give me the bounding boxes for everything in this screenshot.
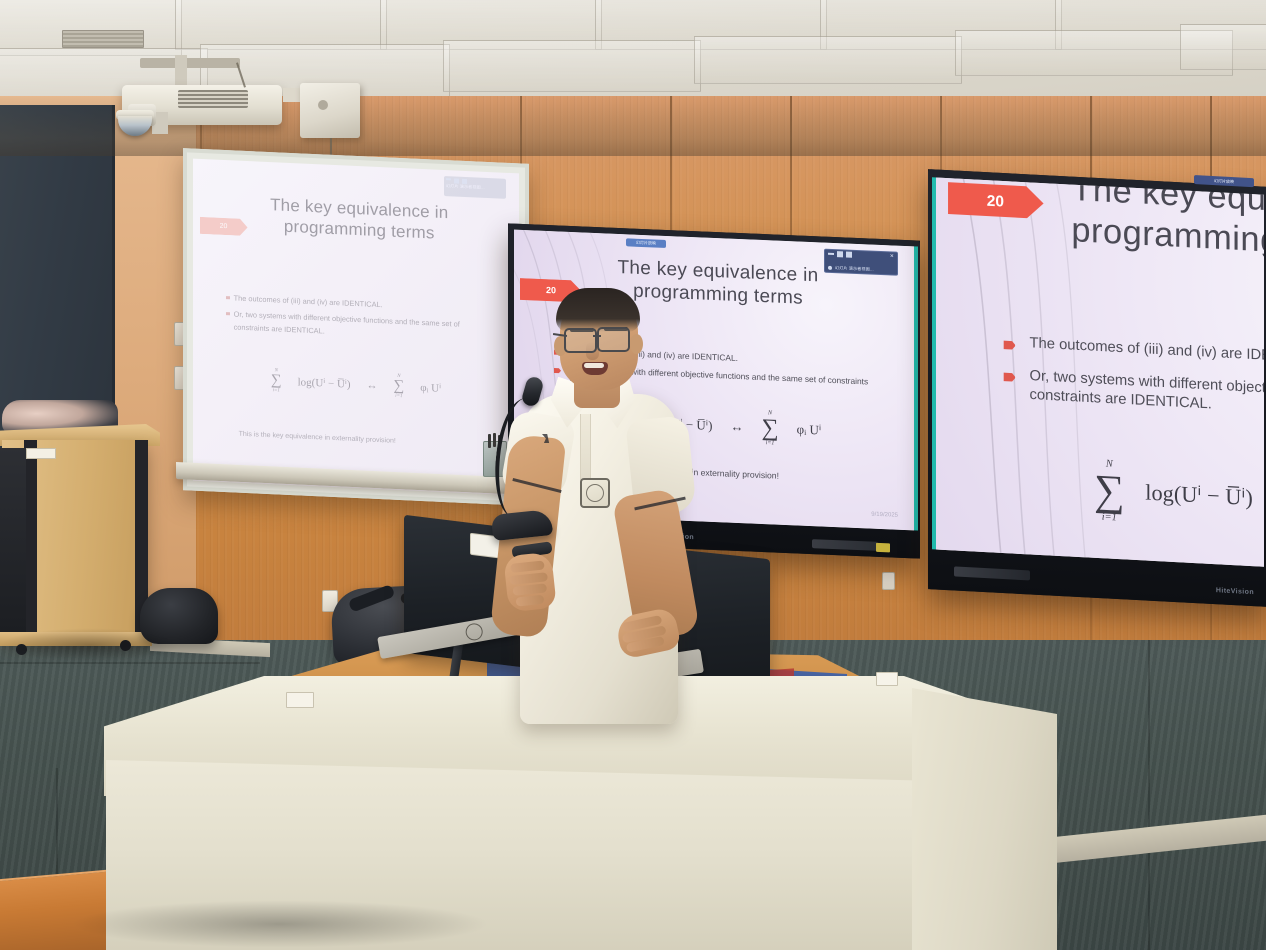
projected-slide: 幻灯片 演示者视图... 20 The key equivalence in p… xyxy=(193,159,519,496)
center-display-edge-glow xyxy=(914,246,918,530)
window-icon[interactable] xyxy=(837,251,843,257)
right-display[interactable]: 20 The key equivalence in programming te… xyxy=(928,169,1266,607)
projected-toolbar-status: 幻灯片 演示者视图... xyxy=(446,184,504,193)
dell-logo-icon xyxy=(464,622,484,642)
slide-toolbar-icons[interactable]: ✕ xyxy=(825,249,897,260)
projected-slide-bullets: The outcomes of (iii) and (iv) are IDENT… xyxy=(226,292,493,349)
ps-right-lower: i=1 xyxy=(395,394,402,399)
ps-left-body: log(Uⁱ − U̅ⁱ) xyxy=(298,375,351,390)
lectern-floor-shadow xyxy=(0,628,180,662)
ps-right-body: φᵢ Uⁱ xyxy=(420,381,441,395)
podium-side-panel xyxy=(912,688,1057,950)
wall-speaker xyxy=(300,83,360,138)
bullet-marker-icon xyxy=(226,312,230,315)
glasses-left-lens xyxy=(564,328,597,353)
right-display-screen[interactable]: 20 The key equivalence in programming te… xyxy=(936,178,1264,567)
slide-right: 20 The key equivalence in programming te… xyxy=(936,178,1264,567)
presenter-right-hand xyxy=(503,552,557,613)
projection-screen-surface: 幻灯片 演示者视图... 20 The key equivalence in p… xyxy=(193,159,519,496)
podium-asset-label xyxy=(286,692,314,708)
projected-slide-title: The key equivalence in programming terms xyxy=(239,193,480,246)
ps-relation: ↔ xyxy=(367,379,378,391)
ps-left-lower: i=1 xyxy=(273,388,280,393)
close-icon[interactable]: ✕ xyxy=(890,253,894,259)
sigma-icon: ∑ xyxy=(761,416,778,441)
glasses-bridge xyxy=(593,335,601,337)
bullet-arrow-icon xyxy=(1004,339,1016,352)
left-lower-limit: i=1 xyxy=(1102,512,1117,523)
projected-formula: N ∑ i=1 log(Uⁱ − U̅ⁱ) ↔ N ∑ i=1 φᵢ Uⁱ xyxy=(232,366,480,402)
presenter-shirt-placket xyxy=(580,414,591,480)
right-expression: φᵢ Uⁱ xyxy=(797,422,822,439)
wall-outlet-right-2[interactable] xyxy=(882,572,895,590)
left-summation: N ∑ i=1 xyxy=(1094,459,1125,524)
glasses-right-lens xyxy=(597,327,630,352)
projected-toolbar: 幻灯片 演示者视图... xyxy=(444,176,506,199)
grid-icon[interactable] xyxy=(846,251,852,257)
minimize-icon xyxy=(446,179,451,181)
ceiling-vent xyxy=(62,30,144,48)
projector-mount-arm xyxy=(140,58,240,68)
projected-footer-note: This is the key equivalence in externali… xyxy=(239,431,474,449)
equivalence-icon: ↔ xyxy=(730,419,743,436)
left-expression: log(Uⁱ − U̅ⁱ) xyxy=(1145,479,1253,512)
ps-left-sigma: ∑ xyxy=(271,373,282,388)
podium-floor-shadow xyxy=(70,900,490,948)
podium-asset-label-2 xyxy=(876,672,898,686)
shirt-chest-emblem xyxy=(580,478,610,508)
bullet-arrow-icon xyxy=(1004,371,1016,384)
right-lower-limit: i=1 xyxy=(766,441,775,447)
slide-date-stamp: 9/19/2025 xyxy=(871,511,898,518)
ps-right-sigma: ∑ xyxy=(394,379,405,394)
presenter-hair xyxy=(556,288,640,332)
projector-vent xyxy=(178,90,248,108)
slide-bullet-1: The outcomes of (iii) and (iv) are IDENT… xyxy=(1029,334,1264,370)
right-summation: N ∑ i=1 xyxy=(761,410,778,447)
lecture-hall-scene: 幻灯片 演示者视图... 20 The key equivalence in p… xyxy=(0,0,1266,950)
sigma-icon: ∑ xyxy=(1094,469,1125,514)
bullet-marker-icon xyxy=(226,296,230,299)
projection-screen: 幻灯片 演示者视图... 20 The key equivalence in p… xyxy=(183,148,529,506)
center-display-indicator xyxy=(876,543,890,553)
minimize-icon[interactable] xyxy=(828,252,834,254)
lectern-side-panel xyxy=(0,448,26,634)
lectern-asset-label xyxy=(26,448,56,459)
